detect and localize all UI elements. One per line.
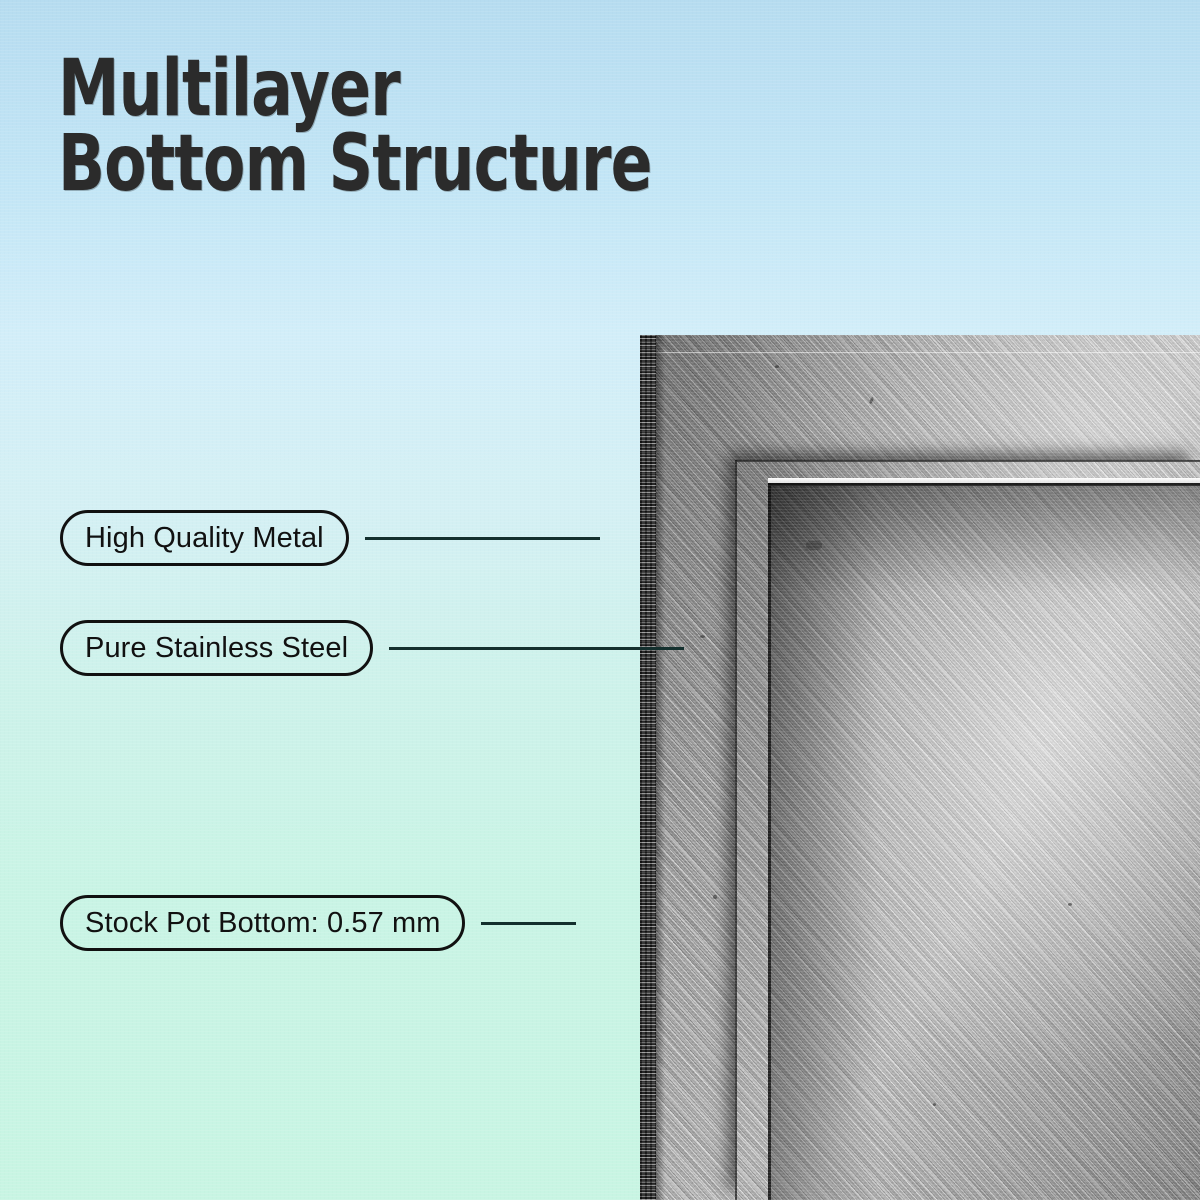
leader-line	[389, 647, 684, 650]
callout-pill[interactable]: High Quality Metal	[60, 510, 349, 566]
surface-speck	[933, 1103, 936, 1106]
callout-pill[interactable]: Pure Stainless Steel	[60, 620, 373, 676]
callout-stock-pot-bottom-thickness[interactable]: Stock Pot Bottom: 0.57 mm	[60, 895, 576, 951]
surface-speck	[775, 365, 779, 368]
surface-speck	[700, 635, 705, 638]
plate-edge-thickness	[640, 335, 656, 1200]
plate-edge-shadow	[656, 335, 665, 1200]
inner-panel-left-shadow	[768, 483, 771, 1200]
inner-metal-panel	[768, 483, 1200, 1200]
callout-pill[interactable]: Stock Pot Bottom: 0.57 mm	[60, 895, 465, 951]
leader-line	[481, 922, 576, 925]
page-title: Multilayer Bottom Structure	[58, 52, 652, 202]
leader-line	[365, 537, 600, 540]
infographic-canvas: Multilayer Bottom Structure High Quality…	[0, 0, 1200, 1200]
sheen-inner	[768, 483, 1200, 1200]
surface-blemish	[806, 541, 822, 550]
middle-layer-left-edge	[735, 460, 737, 1200]
outer-layer-top-rule	[655, 352, 1200, 353]
surface-speck	[1068, 903, 1072, 906]
inner-panel-top-shadow	[768, 483, 1200, 486]
surface-speck	[713, 895, 717, 899]
callout-pure-stainless-steel[interactable]: Pure Stainless Steel	[60, 620, 684, 676]
callout-high-quality-metal[interactable]: High Quality Metal	[60, 510, 600, 566]
metal-plate-photo	[640, 335, 1200, 1200]
middle-layer-top-edge	[735, 460, 1200, 462]
